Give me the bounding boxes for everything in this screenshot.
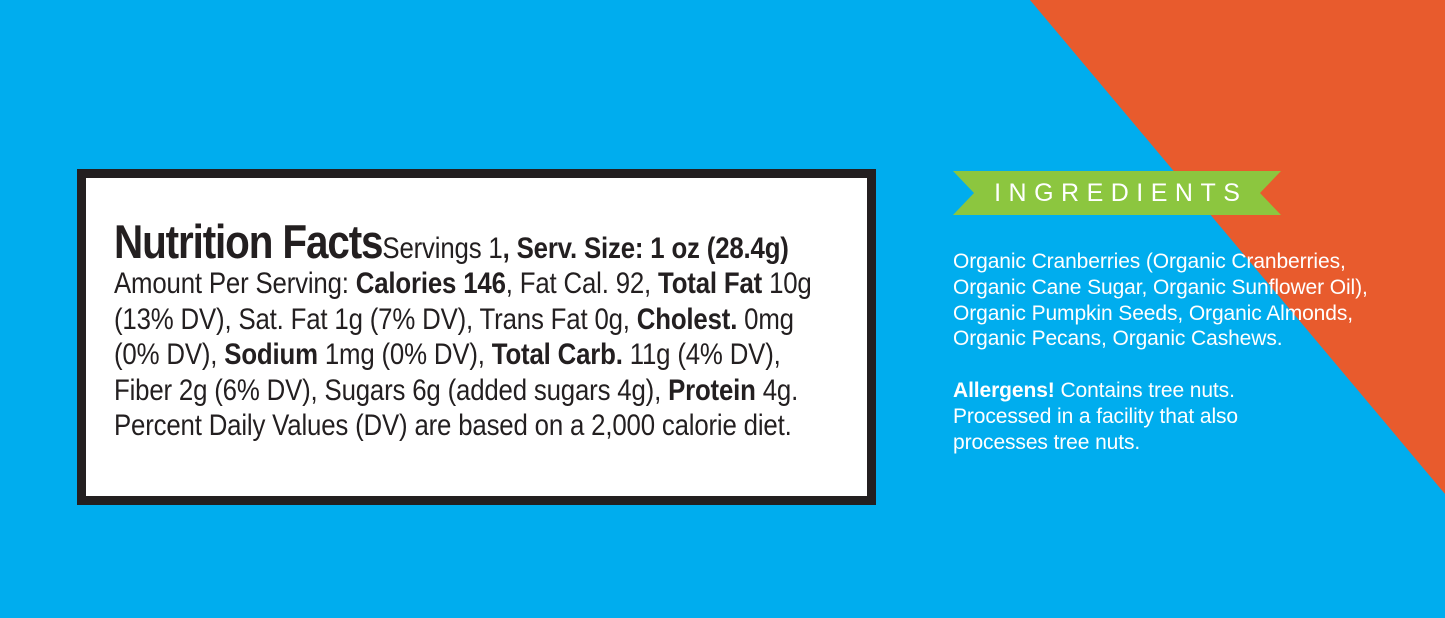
ingredients-banner: INGREDIENTS	[953, 171, 1281, 215]
total-carb-label: Total Carb.	[492, 338, 623, 371]
sodium-label: Sodium	[224, 338, 318, 371]
ingredients-body-text: Organic Cranberries (Organic Cranberries…	[953, 249, 1373, 352]
fat-calories-value: , Fat Cal. 92,	[506, 267, 658, 300]
sodium-value: 1mg (0% DV),	[318, 338, 492, 371]
calories-value: Calories 146	[356, 267, 506, 300]
nutrition-facts-text: Nutrition FactsServings 1, Serv. Size: 1…	[114, 225, 839, 443]
total-fat-label: Total Fat	[658, 267, 762, 300]
amount-per-serving-label: Amount Per Serving:	[114, 267, 356, 300]
allergens-heading: Allergens!	[953, 379, 1055, 402]
protein-label: Protein	[668, 374, 756, 407]
allergens-block: Allergens! Contains tree nuts. Processed…	[953, 378, 1253, 455]
nutrition-facts-inner: Nutrition FactsServings 1, Serv. Size: 1…	[86, 178, 867, 496]
nutrition-facts-title: Nutrition Facts	[114, 215, 382, 268]
nutrition-label-canvas: Nutrition FactsServings 1, Serv. Size: 1…	[0, 0, 1445, 618]
nutrition-facts-panel: Nutrition FactsServings 1, Serv. Size: 1…	[77, 169, 876, 505]
ingredients-banner-title: INGREDIENTS	[953, 171, 1281, 215]
servings-label: Servings 1	[382, 232, 502, 265]
cholesterol-label: Cholest.	[637, 303, 737, 336]
serving-size-value: , Serv. Size: 1 oz (28.4g)	[503, 232, 789, 265]
